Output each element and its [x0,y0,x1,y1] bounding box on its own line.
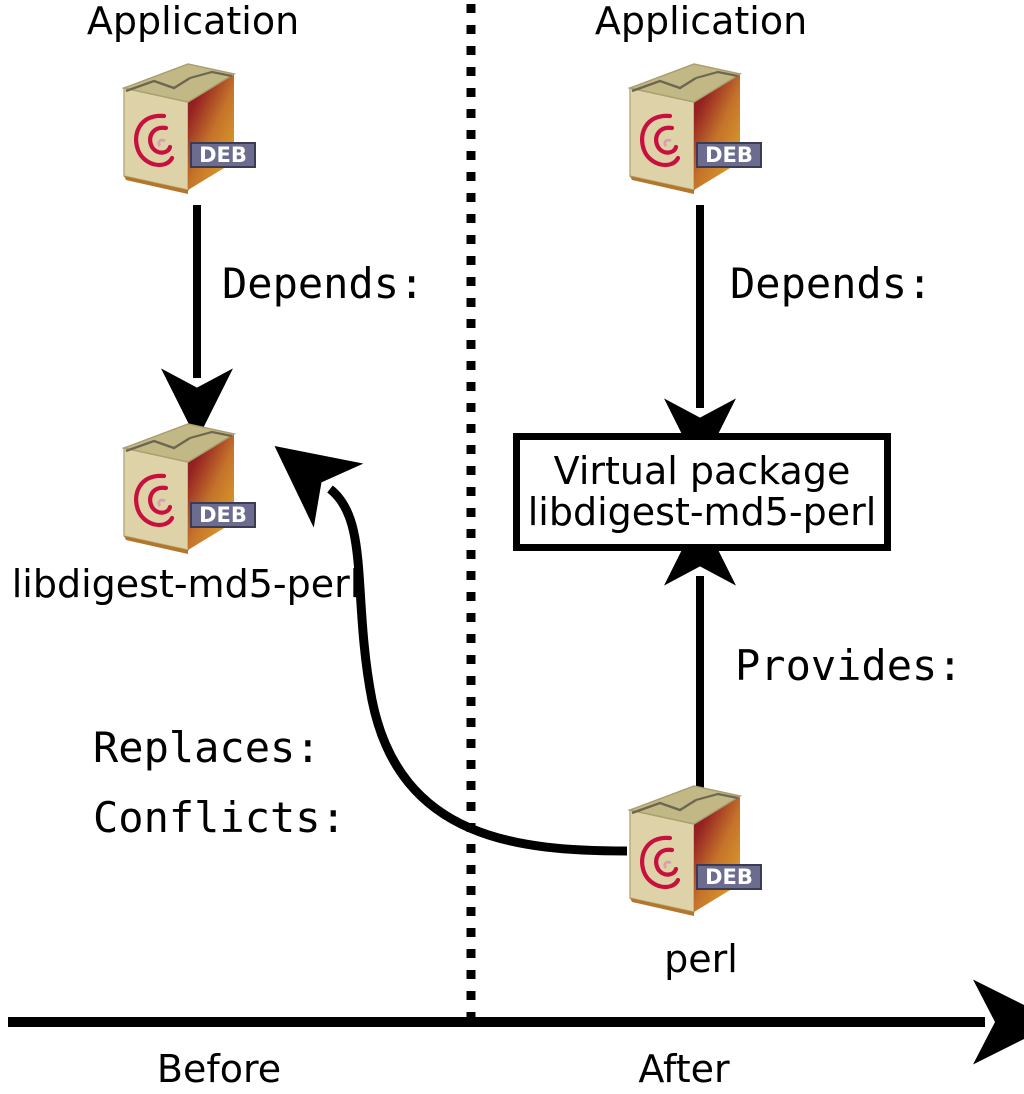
before-target-package-label: libdigest-md5-perl [12,565,361,603]
after-application-package-icon: DEB [620,58,772,198]
after-application-label: Application [595,2,807,40]
conflicts-label: Conflicts: [93,797,346,839]
deb-badge: DEB [190,142,256,168]
deb-badge: DEB [696,864,762,890]
deb-badge: DEB [190,502,256,528]
svg-text:DEB: DEB [705,143,753,167]
before-application-package-icon: DEB [114,58,266,198]
virtual-package-box: Virtual package libdigest-md5-perl [513,433,891,551]
after-perl-package-icon: DEB [620,780,772,920]
after-depends-label: Depends: [730,263,932,305]
svg-text:DEB: DEB [705,865,753,889]
provides-label: Provides: [735,645,963,687]
virtual-package-line1: Virtual package [554,451,851,492]
deb-badge: DEB [696,142,762,168]
svg-text:DEB: DEB [199,503,247,527]
before-depends-label: Depends: [222,263,424,305]
svg-text:DEB: DEB [199,143,247,167]
after-perl-package-label: perl [664,940,738,978]
virtual-package-line2: libdigest-md5-perl [528,492,877,533]
before-application-label: Application [87,2,299,40]
replaces-label: Replaces: [93,727,321,769]
diagram-canvas: Application [0,0,1024,1094]
before-target-package-icon: DEB [114,418,266,558]
timeline-before-label: Before [157,1050,281,1088]
timeline-after-label: After [638,1050,729,1088]
